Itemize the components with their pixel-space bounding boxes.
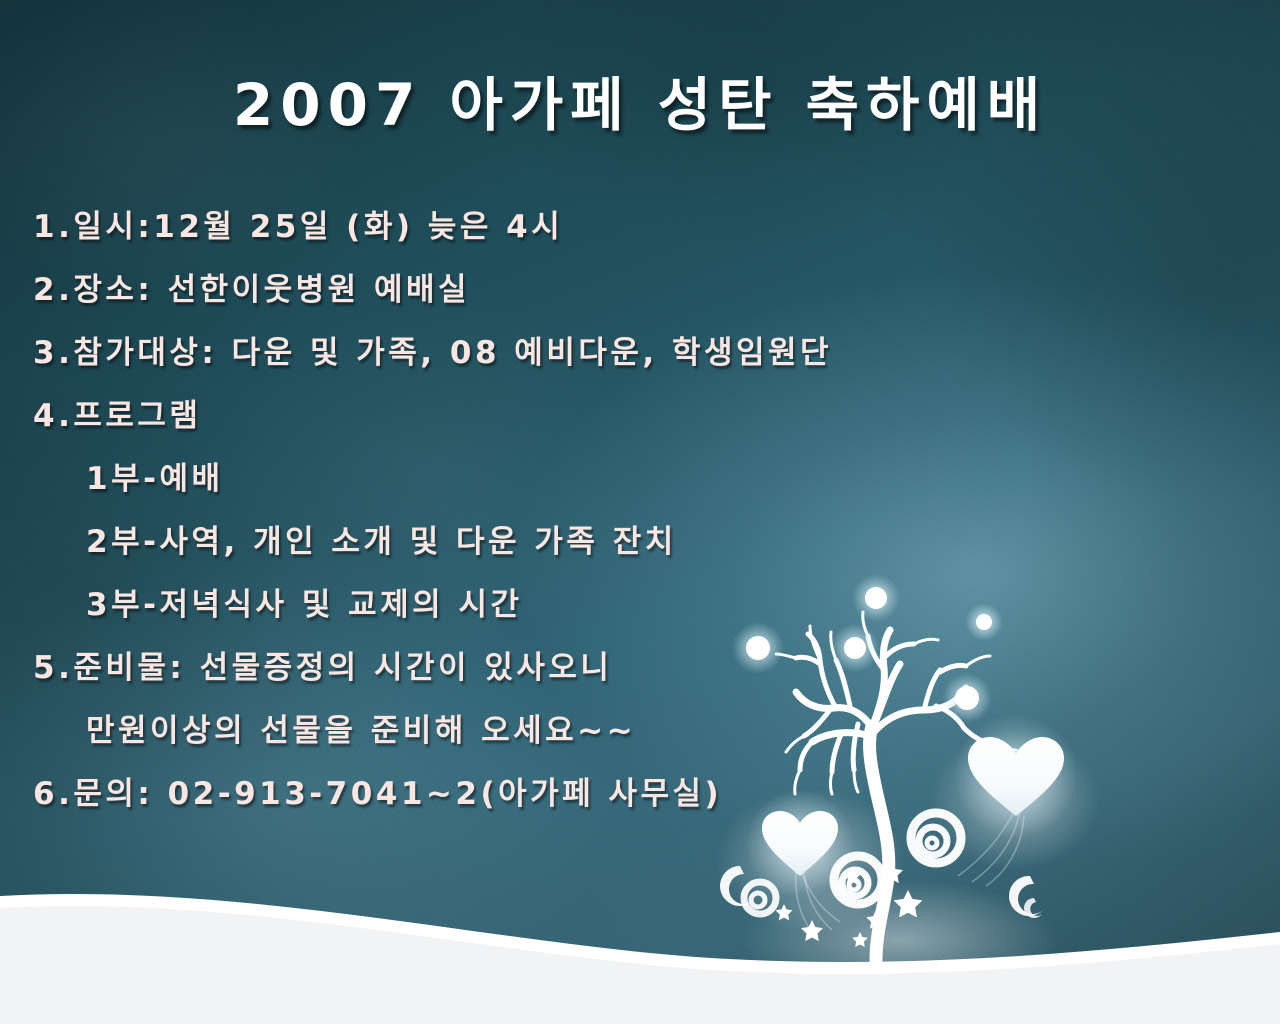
presentation-slide: 2007 아가페 성탄 축하예배 1.일시:12월 25일 (화) 늦은 4시 …: [0, 0, 1280, 1024]
list-item: 1.일시:12월 25일 (화) 늦은 4시: [0, 196, 1280, 259]
page-title: 2007 아가페 성탄 축하예배: [0, 58, 1280, 142]
list-item: 2.장소: 선한이웃병원 예배실: [0, 259, 1280, 322]
list-item: 2부-사역, 개인 소개 및 다운 가족 잔치: [0, 511, 1280, 574]
list-item: 1부-예배: [0, 448, 1280, 511]
list-item: 6.문의: 02-913-7041~2(아가페 사무실): [0, 763, 1280, 826]
list-item: 3.참가대상: 다운 및 가족, 08 예비다운, 학생임원단: [0, 322, 1280, 385]
program-details-list: 1.일시:12월 25일 (화) 늦은 4시 2.장소: 선한이웃병원 예배실 …: [0, 196, 1280, 826]
list-item: 3부-저녁식사 및 교제의 시간: [0, 574, 1280, 637]
list-item: 만원이상의 선물을 준비해 오세요~~: [0, 700, 1280, 763]
bottom-wave-decoration: [0, 834, 1280, 1024]
list-item: 4.프로그램: [0, 385, 1280, 448]
list-item: 5.준비물: 선물증정의 시간이 있사오니: [0, 637, 1280, 700]
